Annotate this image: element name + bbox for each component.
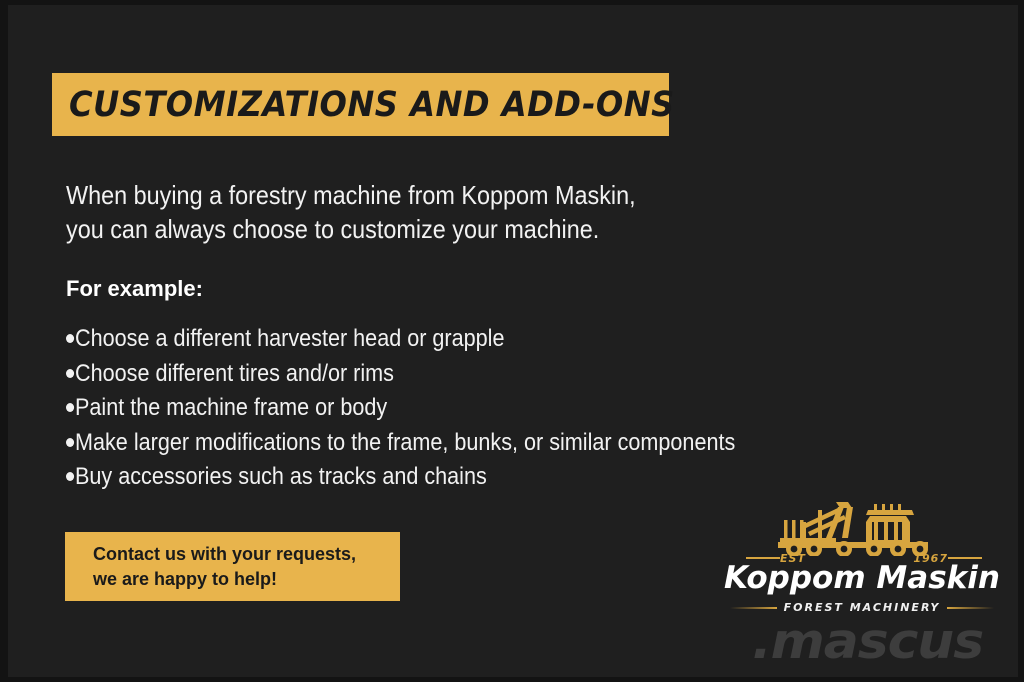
- edge-shade-right: [1018, 0, 1024, 682]
- bullet-dot-icon: [66, 403, 74, 412]
- edge-shade-bottom: [0, 677, 1024, 682]
- list-item-label: Buy accessories such as tracks and chain…: [75, 463, 487, 490]
- edge-shade-left: [0, 0, 8, 682]
- list-item: Buy accessories such as tracks and chain…: [66, 460, 966, 495]
- bullet-dot-icon: [66, 369, 74, 378]
- logo-rule-right: [948, 557, 982, 559]
- intro-paragraph: When buying a forestry machine from Kopp…: [66, 178, 826, 246]
- title-banner: CUSTOMIZATIONS AND ADD-ONS: [52, 73, 669, 136]
- logo-tagline-rule-right: [947, 607, 994, 609]
- slide-canvas: CUSTOMIZATIONS AND ADD-ONS When buying a…: [0, 0, 1024, 682]
- bullet-dot-icon: [66, 472, 74, 481]
- bullet-dot-icon: [66, 334, 74, 343]
- for-example-label: For example:: [66, 276, 203, 302]
- forwarder-machine-icon: [774, 498, 954, 556]
- koppom-maskin-logo: EST 1967 Koppom Maskin FOREST MACHINERY: [724, 498, 1000, 612]
- cta-line-1: Contact us with your requests,: [93, 542, 400, 567]
- list-item-label: Choose different tires and/or rims: [75, 360, 394, 387]
- contact-cta-box[interactable]: Contact us with your requests, we are ha…: [65, 532, 400, 601]
- list-item: Choose a different harvester head or gra…: [66, 322, 966, 357]
- logo-rule-left: [746, 557, 780, 559]
- list-item-label: Choose a different harvester head or gra…: [75, 325, 504, 352]
- logo-wordmark: Koppom Maskin: [724, 560, 1000, 596]
- cta-line-2: we are happy to help!: [93, 567, 400, 592]
- list-item: Make larger modifications to the frame, …: [66, 426, 966, 461]
- intro-line-1: When buying a forestry machine from Kopp…: [66, 178, 750, 212]
- edge-shade-top: [0, 0, 1024, 5]
- intro-line-2: you can always choose to customize your …: [66, 212, 750, 246]
- list-item: Choose different tires and/or rims: [66, 357, 966, 392]
- logo-tagline-rule-left: [730, 607, 777, 609]
- list-item: Paint the machine frame or body: [66, 391, 966, 426]
- mascus-watermark: .mascus: [752, 613, 983, 670]
- page-title: CUSTOMIZATIONS AND ADD-ONS: [69, 85, 675, 125]
- bullet-dot-icon: [66, 438, 74, 447]
- examples-list: Choose a different harvester head or gra…: [66, 322, 966, 495]
- list-item-label: Paint the machine frame or body: [75, 394, 387, 421]
- list-item-label: Make larger modifications to the frame, …: [75, 429, 735, 456]
